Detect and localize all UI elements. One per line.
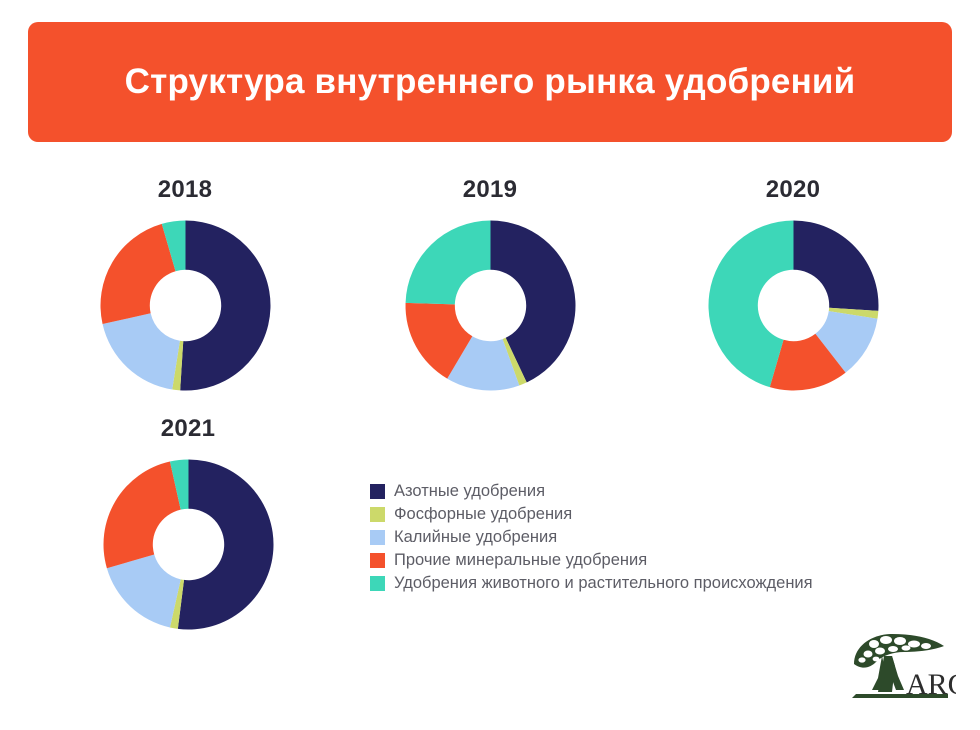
donut-slice[interactable] bbox=[100, 224, 175, 324]
donut-graphic-2018 bbox=[98, 218, 273, 393]
chart-title-2019: 2019 bbox=[385, 176, 595, 204]
legend-item[interactable]: Азотные удобрения bbox=[370, 480, 950, 502]
legend-item-label: Калийные удобрения bbox=[394, 529, 557, 546]
legend-item[interactable]: Фосфорные удобрения bbox=[370, 503, 950, 525]
legend-item[interactable]: Удобрения животного и растительного прои… bbox=[370, 572, 950, 594]
donut-chart-2019: 2019 bbox=[385, 176, 595, 393]
donut-graphic-2021 bbox=[101, 457, 276, 632]
donut-slice[interactable] bbox=[106, 554, 180, 627]
title-banner: Структура внутреннего рынка удобрений bbox=[28, 22, 952, 142]
arg-logo: ARG bbox=[848, 622, 956, 706]
logo-text: ARG bbox=[906, 668, 956, 701]
donut-slice[interactable] bbox=[405, 221, 490, 305]
legend-item-label: Прочие минеральные удобрения bbox=[394, 552, 647, 569]
donut-slice[interactable] bbox=[102, 313, 179, 389]
page-title: Структура внутреннего рынка удобрений bbox=[125, 61, 856, 104]
legend-swatch-icon bbox=[370, 507, 385, 522]
legend-swatch-icon bbox=[370, 484, 385, 499]
donut-slice[interactable] bbox=[180, 221, 270, 391]
donut-chart-2021: 2021 bbox=[83, 415, 293, 632]
legend-item[interactable]: Прочие минеральные удобрения bbox=[370, 549, 950, 571]
donut-chart-2018: 2018 bbox=[80, 176, 290, 393]
donut-chart-2020: 2020 bbox=[688, 176, 898, 393]
donut-slice[interactable] bbox=[793, 221, 878, 311]
donut-graphic-2020 bbox=[706, 218, 881, 393]
legend-swatch-icon bbox=[370, 576, 385, 591]
legend-item-label: Удобрения животного и растительного прои… bbox=[394, 575, 813, 592]
donut-slice[interactable] bbox=[177, 460, 273, 630]
legend-item[interactable]: Калийные удобрения bbox=[370, 526, 950, 548]
legend-swatch-icon bbox=[370, 553, 385, 568]
donut-graphic-2019 bbox=[403, 218, 578, 393]
chart-title-2020: 2020 bbox=[688, 176, 898, 204]
legend-item-label: Азотные удобрения bbox=[394, 483, 545, 500]
legend-item-label: Фосфорные удобрения bbox=[394, 506, 572, 523]
legend-swatch-icon bbox=[370, 530, 385, 545]
chart-legend: Азотные удобренияФосфорные удобренияКали… bbox=[370, 480, 950, 595]
chart-title-2018: 2018 bbox=[80, 176, 290, 204]
chart-title-2021: 2021 bbox=[83, 415, 293, 443]
donut-slice[interactable] bbox=[103, 462, 180, 569]
